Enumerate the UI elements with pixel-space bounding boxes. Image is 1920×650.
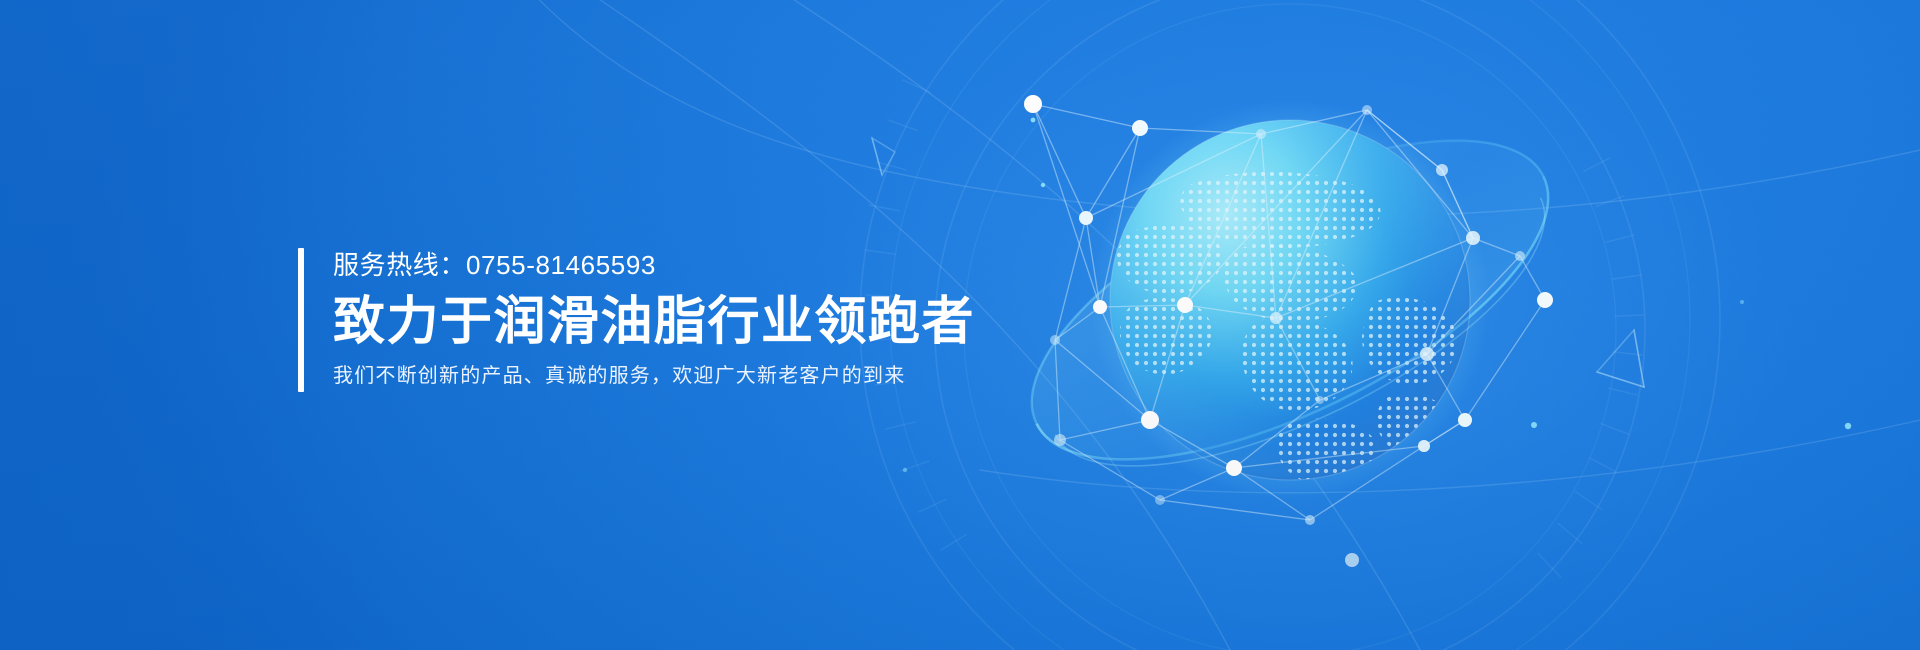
service-hotline: 服务热线：0755-81465593: [333, 250, 975, 280]
banner-subtitle: 我们不断创新的产品、真诚的服务，欢迎广大新老客户的到来: [333, 364, 975, 388]
page-title: 致力于润滑油脂行业领跑者: [333, 293, 975, 351]
banner-text-block: 服务热线：0755-81465593 致力于润滑油脂行业领跑者 我们不断创新的产…: [298, 248, 975, 392]
hero-banner: 服务热线：0755-81465593 致力于润滑油脂行业领跑者 我们不断创新的产…: [0, 0, 1920, 650]
